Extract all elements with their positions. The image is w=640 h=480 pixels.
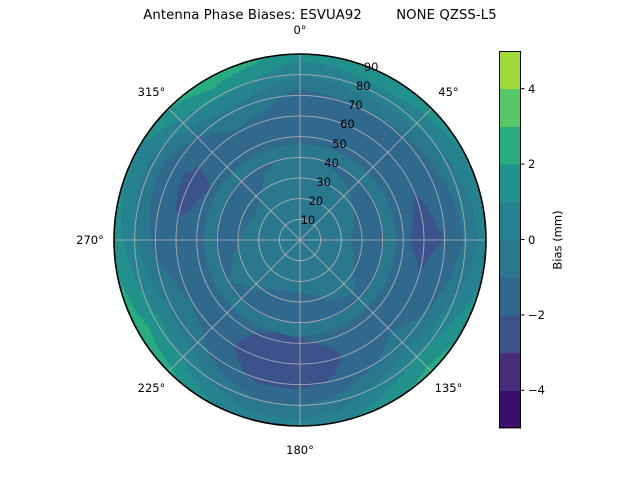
- radial-tick-label-20: 20: [308, 194, 323, 208]
- theta-tick-label-180: 180°: [286, 443, 314, 457]
- polar-contour-plot[interactable]: 0°45°90135°180°225°270°315°1020304050607…: [108, 48, 492, 432]
- colorbar[interactable]: [499, 51, 521, 428]
- radial-tick-label-80: 80: [356, 79, 371, 93]
- radial-tick-label-50: 50: [332, 137, 347, 151]
- theta-tick-label-0: 0°: [293, 23, 306, 37]
- colorbar-axis-label: Bias (mm): [549, 51, 567, 428]
- colorbar-clip-mask: [492, 40, 499, 440]
- colorbar-svg: [499, 51, 521, 428]
- theta-tick-label-225: 225°: [138, 381, 166, 395]
- radial-tick-label-60: 60: [340, 117, 355, 131]
- radial-tick-label-90: 90: [364, 60, 379, 74]
- colorbar-tick-label-2: 0: [528, 233, 535, 247]
- radial-tick-label-40: 40: [324, 156, 339, 170]
- polar-plot-svg: [108, 48, 492, 432]
- radial-tick-label-70: 70: [348, 98, 363, 112]
- colorbar-label-text: Bias (mm): [551, 210, 565, 269]
- page-title: Antenna Phase Biases: ESVUA92 NONE QZSS-…: [0, 8, 640, 23]
- theta-tick-label-45: 45°: [438, 85, 458, 99]
- colorbar-tick-label-3: 2: [528, 157, 535, 171]
- theta-tick-label-315: 315°: [138, 85, 166, 99]
- theta-tick-label-135: 135°: [435, 381, 463, 395]
- colorbar-tick-label-1: −2: [528, 308, 545, 322]
- radial-tick-label-30: 30: [316, 175, 331, 189]
- theta-tick-label-270: 270°: [76, 233, 104, 247]
- colorbar-tick-label-0: −4: [528, 383, 545, 397]
- figure-canvas: Antenna Phase Biases: ESVUA92 NONE QZSS-…: [0, 0, 640, 480]
- colorbar-tick-label-4: 4: [528, 82, 535, 96]
- radial-tick-label-10: 10: [301, 213, 316, 227]
